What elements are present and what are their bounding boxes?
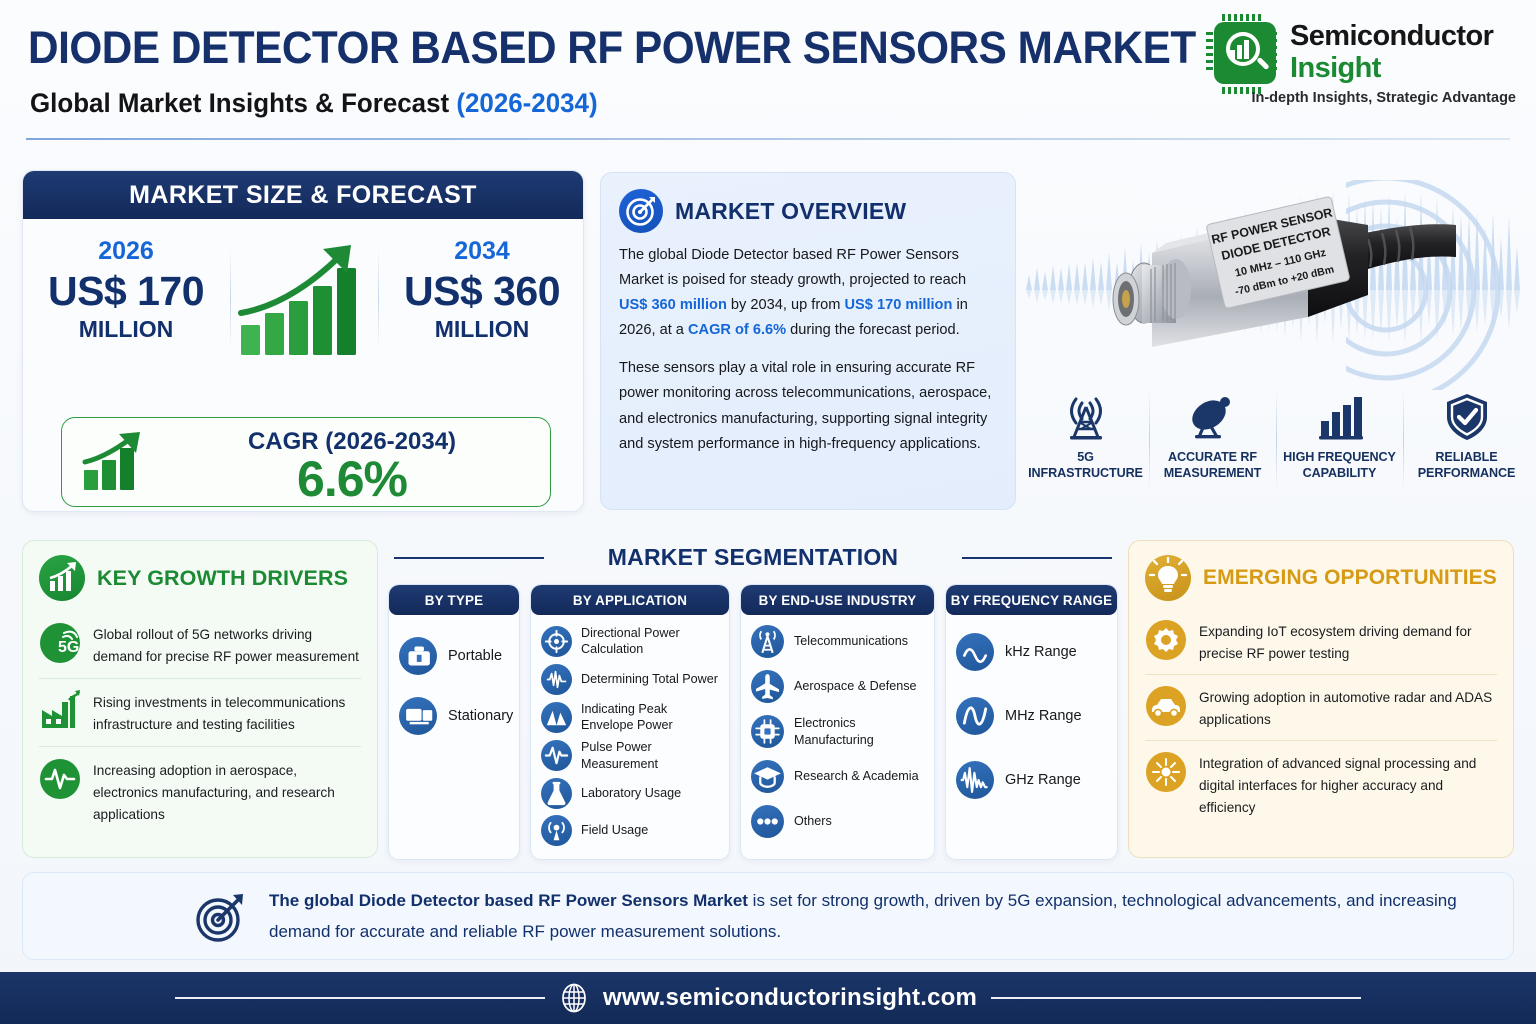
market-overview-header: MARKET OVERVIEW bbox=[619, 189, 997, 233]
crosshair-icon bbox=[541, 626, 572, 657]
market-overview-para2: These sensors play a vital role in ensur… bbox=[619, 356, 997, 456]
product-image: RF POWER SENSOR DIODE DETECTOR 10 MHz – … bbox=[1016, 140, 1536, 390]
shield-check-icon bbox=[1441, 388, 1493, 446]
waveform-icon bbox=[541, 664, 572, 695]
forecast-value: US$ 360 bbox=[387, 268, 577, 315]
peak-envelope-icon bbox=[541, 702, 572, 733]
target-arrow-icon bbox=[191, 887, 249, 945]
summary-text: The global Diode Detector based RF Power… bbox=[269, 885, 1485, 948]
segmentation-card: BY TYPEPortableStationary bbox=[388, 584, 520, 860]
segmentation-item-label: Portable bbox=[448, 647, 502, 666]
segmentation-item[interactable]: Portable bbox=[399, 637, 511, 675]
segmentation-item-label: Determining Total Power bbox=[581, 671, 718, 687]
feature-label-line2: PERFORMANCE bbox=[1418, 466, 1516, 482]
segmentation-item[interactable]: Stationary bbox=[399, 697, 511, 735]
svg-text:5G: 5G bbox=[58, 639, 79, 656]
segmentation-item-label: Telecommunications bbox=[794, 633, 908, 649]
logo-text-semiconductor: Semiconductor bbox=[1290, 20, 1493, 53]
segmentation-card-title: BY TYPE bbox=[425, 593, 483, 608]
growth-driver-item: 5G Global rollout of 5G networks driving… bbox=[39, 611, 361, 678]
segmentation-item-list: TelecommunicationsAerospace & DefenseEle… bbox=[741, 615, 934, 858]
segmentation-item[interactable]: Field Usage bbox=[541, 815, 721, 846]
segmentation-item[interactable]: Pulse Power Measurement bbox=[541, 739, 721, 772]
market-size-title: MARKET SIZE & FORECAST bbox=[129, 181, 477, 210]
antenna-tower-icon bbox=[1060, 388, 1112, 446]
page-header: DIODE DETECTOR BASED RF POWER SENSORS MA… bbox=[0, 0, 1536, 140]
signal-processing-icon bbox=[1145, 751, 1187, 793]
satellite-dish-icon bbox=[1187, 388, 1239, 446]
cagr-box: CAGR (2026-2034) 6.6% bbox=[61, 417, 551, 507]
ellipsis-icon bbox=[751, 805, 784, 838]
segmentation-item-label: Research & Academia bbox=[794, 768, 919, 784]
page-title: DIODE DETECTOR BASED RF POWER SENSORS MA… bbox=[28, 22, 1196, 74]
opportunity-item: Growing adoption in automotive radar and… bbox=[1145, 674, 1497, 740]
segmentation-item[interactable]: Electronics Manufacturing bbox=[751, 715, 926, 748]
base-year-block: 2026 US$ 170 MILLION bbox=[31, 237, 221, 343]
feature-high-frequency-capability: HIGH FREQUENCY CAPABILITY bbox=[1276, 384, 1403, 509]
segmentation-card-header: BY TYPE bbox=[389, 585, 519, 615]
segmentation-title: MARKET SEGMENTATION bbox=[594, 544, 912, 571]
overview-text: during the forecast period. bbox=[786, 322, 960, 338]
segmentation-item-label: MHz Range bbox=[1005, 707, 1082, 726]
segmentation-item[interactable]: Laboratory Usage bbox=[541, 778, 721, 809]
growth-driver-item: Increasing adoption in aerospace, electr… bbox=[39, 746, 361, 836]
graduation-cap-icon bbox=[751, 760, 784, 793]
footer-bar: www.semiconductorinsight.com bbox=[0, 972, 1536, 1024]
forecast-unit: MILLION bbox=[387, 316, 577, 343]
segmentation-header: MARKET SEGMENTATION bbox=[388, 538, 1118, 576]
globe-icon bbox=[559, 983, 589, 1013]
segmentation-item-label: Directional Power Calculation bbox=[581, 625, 721, 658]
segmentation-item-label: Pulse Power Measurement bbox=[581, 739, 721, 772]
cagr-value: 6.6% bbox=[162, 450, 542, 508]
segmentation-item-label: kHz Range bbox=[1005, 643, 1077, 662]
growth-driver-text: Rising investments in telecommunications… bbox=[93, 690, 361, 736]
segmentation-item-list: PortableStationary bbox=[389, 615, 519, 765]
segmentation-card-title: BY END-USE INDUSTRY bbox=[759, 593, 917, 608]
segmentation-card-header: BY END-USE INDUSTRY bbox=[741, 585, 934, 615]
emerging-opportunities-header: EMERGING OPPORTUNITIES bbox=[1145, 555, 1497, 601]
feature-label-line1: ACCURATE RF bbox=[1164, 450, 1262, 466]
desktop-monitor-icon bbox=[399, 697, 437, 735]
opportunity-text: Integration of advanced signal processin… bbox=[1199, 751, 1497, 819]
growth-driver-item: Rising investments in telecommunications… bbox=[39, 678, 361, 746]
segmentation-card-header: BY FREQUENCY RANGE bbox=[946, 585, 1117, 615]
segmentation-item-label: Electronics Manufacturing bbox=[794, 715, 926, 748]
feature-accurate-rf-measurement: ACCURATE RF MEASUREMENT bbox=[1149, 384, 1276, 509]
feature-label-line1: RELIABLE bbox=[1418, 450, 1516, 466]
forecast-year: 2034 bbox=[387, 237, 577, 266]
opportunity-item: Integration of advanced signal processin… bbox=[1145, 740, 1497, 828]
growth-driver-text: Global rollout of 5G networks driving de… bbox=[93, 622, 361, 668]
market-size-panel: MARKET SIZE & FORECAST 2026 US$ 170 MILL… bbox=[22, 170, 584, 512]
overview-highlight: US$ 170 million bbox=[845, 297, 953, 313]
key-growth-drivers-panel: KEY GROWTH DRIVERS 5G Global rollout of … bbox=[22, 540, 378, 858]
iot-gear-icon bbox=[1145, 619, 1187, 661]
market-segmentation-section: MARKET SEGMENTATION BY TYPEPortableStati… bbox=[388, 538, 1118, 860]
market-overview-panel: MARKET OVERVIEW The global Diode Detecto… bbox=[600, 172, 1016, 510]
feature-5g-infrastructure: 5G INFRASTRUCTURE bbox=[1022, 384, 1149, 509]
base-unit: MILLION bbox=[31, 316, 221, 343]
segmentation-card: BY END-USE INDUSTRYTelecommunicationsAer… bbox=[740, 584, 935, 860]
segmentation-item-list: Directional Power CalculationDetermining… bbox=[531, 615, 729, 860]
infographic-page: DIODE DETECTOR BASED RF POWER SENSORS MA… bbox=[0, 0, 1536, 1024]
segmentation-item[interactable]: Determining Total Power bbox=[541, 664, 721, 695]
growth-driver-text: Increasing adoption in aerospace, electr… bbox=[93, 758, 361, 826]
overview-highlight: CAGR of 6.6% bbox=[688, 322, 786, 338]
market-overview-para1: The global Diode Detector based RF Power… bbox=[619, 243, 997, 343]
subtitle-main: Global Market Insights & Forecast bbox=[30, 88, 449, 118]
opportunity-item: Expanding IoT ecosystem driving demand f… bbox=[1145, 609, 1497, 674]
lightbulb-icon bbox=[1145, 555, 1191, 601]
segmentation-card-header: BY APPLICATION bbox=[531, 585, 729, 615]
cagr-growth-icon bbox=[82, 432, 146, 494]
segmentation-cards: BY TYPEPortableStationaryBY APPLICATIOND… bbox=[388, 584, 1118, 860]
emerging-opportunities-panel: EMERGING OPPORTUNITIES Expanding IoT eco… bbox=[1128, 540, 1514, 858]
page-subtitle: Global Market Insights & Forecast (2026-… bbox=[30, 88, 598, 119]
segmentation-item[interactable]: Directional Power Calculation bbox=[541, 625, 721, 658]
target-icon bbox=[619, 189, 663, 233]
opportunity-text: Expanding IoT ecosystem driving demand f… bbox=[1199, 619, 1497, 665]
segmentation-item-list: kHz RangeMHz RangeGHz Range bbox=[946, 615, 1117, 833]
low-wave-icon bbox=[956, 633, 994, 671]
company-logo: Semiconductor Insight In-depth Insights,… bbox=[1206, 14, 1516, 114]
growth-bars-arrow-icon bbox=[237, 241, 377, 359]
summary-bold: The global Diode Detector based RF Power… bbox=[269, 891, 748, 910]
market-overview-title: MARKET OVERVIEW bbox=[675, 198, 906, 225]
segmentation-item[interactable]: MHz Range bbox=[956, 697, 1109, 735]
segmentation-item-label: Field Usage bbox=[581, 822, 648, 838]
segmentation-item-label: Laboratory Usage bbox=[581, 785, 681, 801]
footer-url[interactable]: www.semiconductorinsight.com bbox=[603, 984, 977, 1012]
segmentation-item-label: Stationary bbox=[448, 707, 513, 726]
broadcast-icon bbox=[541, 815, 572, 846]
forecast-year-block: 2034 US$ 360 MILLION bbox=[387, 237, 577, 343]
emerging-opportunities-title: EMERGING OPPORTUNITIES bbox=[1203, 566, 1497, 590]
bar-chart-icon bbox=[1314, 388, 1366, 446]
factory-icon bbox=[39, 690, 81, 732]
5g-signal-icon: 5G bbox=[39, 622, 81, 664]
high-freq-wave-icon bbox=[956, 761, 994, 799]
subtitle-years: (2026-2034) bbox=[456, 88, 597, 118]
segmentation-item[interactable]: Others bbox=[751, 805, 926, 838]
segmentation-card: BY APPLICATIONDirectional Power Calculat… bbox=[530, 584, 730, 860]
segmentation-card-title: BY APPLICATION bbox=[573, 593, 687, 608]
feature-highlights-row: 5G INFRASTRUCTURE ACCURATE RF MEASUREMEN… bbox=[1022, 384, 1530, 509]
logo-tagline: In-depth Insights, Strategic Advantage bbox=[1208, 90, 1516, 106]
segmentation-item[interactable]: Research & Academia bbox=[751, 760, 926, 793]
summary-bar: The global Diode Detector based RF Power… bbox=[22, 872, 1514, 960]
segmentation-item-label: Others bbox=[794, 813, 832, 829]
segmentation-item[interactable]: kHz Range bbox=[956, 633, 1109, 671]
rf-power-sensor-device: RF POWER SENSOR DIODE DETECTOR 10 MHz – … bbox=[1056, 195, 1456, 370]
feature-label-line2: INFRASTRUCTURE bbox=[1028, 466, 1143, 482]
pulse-wave-icon bbox=[39, 758, 81, 800]
divider-right bbox=[378, 249, 379, 349]
logo-text-insight: Insight bbox=[1290, 52, 1381, 85]
segmentation-item[interactable]: Telecommunications bbox=[751, 625, 926, 658]
segmentation-item[interactable]: GHz Range bbox=[956, 761, 1109, 799]
segmentation-item-label: GHz Range bbox=[1005, 771, 1081, 790]
key-growth-drivers-header: KEY GROWTH DRIVERS bbox=[39, 555, 361, 601]
base-value: US$ 170 bbox=[31, 268, 221, 315]
flask-icon bbox=[541, 778, 572, 809]
footer-rule-right bbox=[991, 997, 1361, 999]
overview-text: The global Diode Detector based RF Power… bbox=[619, 247, 966, 288]
divider-left bbox=[230, 249, 231, 349]
segmentation-item[interactable]: Aerospace & Defense bbox=[751, 670, 926, 703]
footer-rule-left bbox=[175, 997, 545, 999]
feature-reliable-performance: RELIABLE PERFORMANCE bbox=[1403, 384, 1530, 509]
overview-highlight: US$ 360 million bbox=[619, 297, 727, 313]
cell-tower-icon bbox=[751, 625, 784, 658]
logo-chip-pins bbox=[1206, 14, 1286, 96]
airplane-icon bbox=[751, 670, 784, 703]
pulse-icon bbox=[541, 740, 572, 771]
growth-chart-icon bbox=[39, 555, 85, 601]
segmentation-item-label: Aerospace & Defense bbox=[794, 678, 917, 694]
key-growth-drivers-title: KEY GROWTH DRIVERS bbox=[97, 566, 348, 591]
briefcase-icon bbox=[399, 637, 437, 675]
opportunity-text: Growing adoption in automotive radar and… bbox=[1199, 685, 1497, 731]
segmentation-item-label: Indicating Peak Envelope Power bbox=[581, 701, 721, 734]
segmentation-card-title: BY FREQUENCY RANGE bbox=[951, 593, 1113, 608]
car-icon bbox=[1145, 685, 1187, 727]
segmentation-item[interactable]: Indicating Peak Envelope Power bbox=[541, 701, 721, 734]
market-size-header: MARKET SIZE & FORECAST bbox=[23, 171, 583, 219]
feature-label-line1: HIGH FREQUENCY bbox=[1283, 450, 1396, 466]
segmentation-card: BY FREQUENCY RANGEkHz RangeMHz RangeGHz … bbox=[945, 584, 1118, 860]
feature-label-line2: MEASUREMENT bbox=[1164, 466, 1262, 482]
feature-label-line1: 5G bbox=[1028, 450, 1143, 466]
base-year: 2026 bbox=[31, 237, 221, 266]
feature-label-line2: CAPABILITY bbox=[1283, 466, 1396, 482]
market-size-body: 2026 US$ 170 MILLION 2034 US$ 360 MILLIO… bbox=[23, 219, 583, 512]
sine-wave-icon bbox=[956, 697, 994, 735]
microchip-icon bbox=[751, 715, 784, 748]
overview-text: by 2034, up from bbox=[727, 297, 845, 313]
